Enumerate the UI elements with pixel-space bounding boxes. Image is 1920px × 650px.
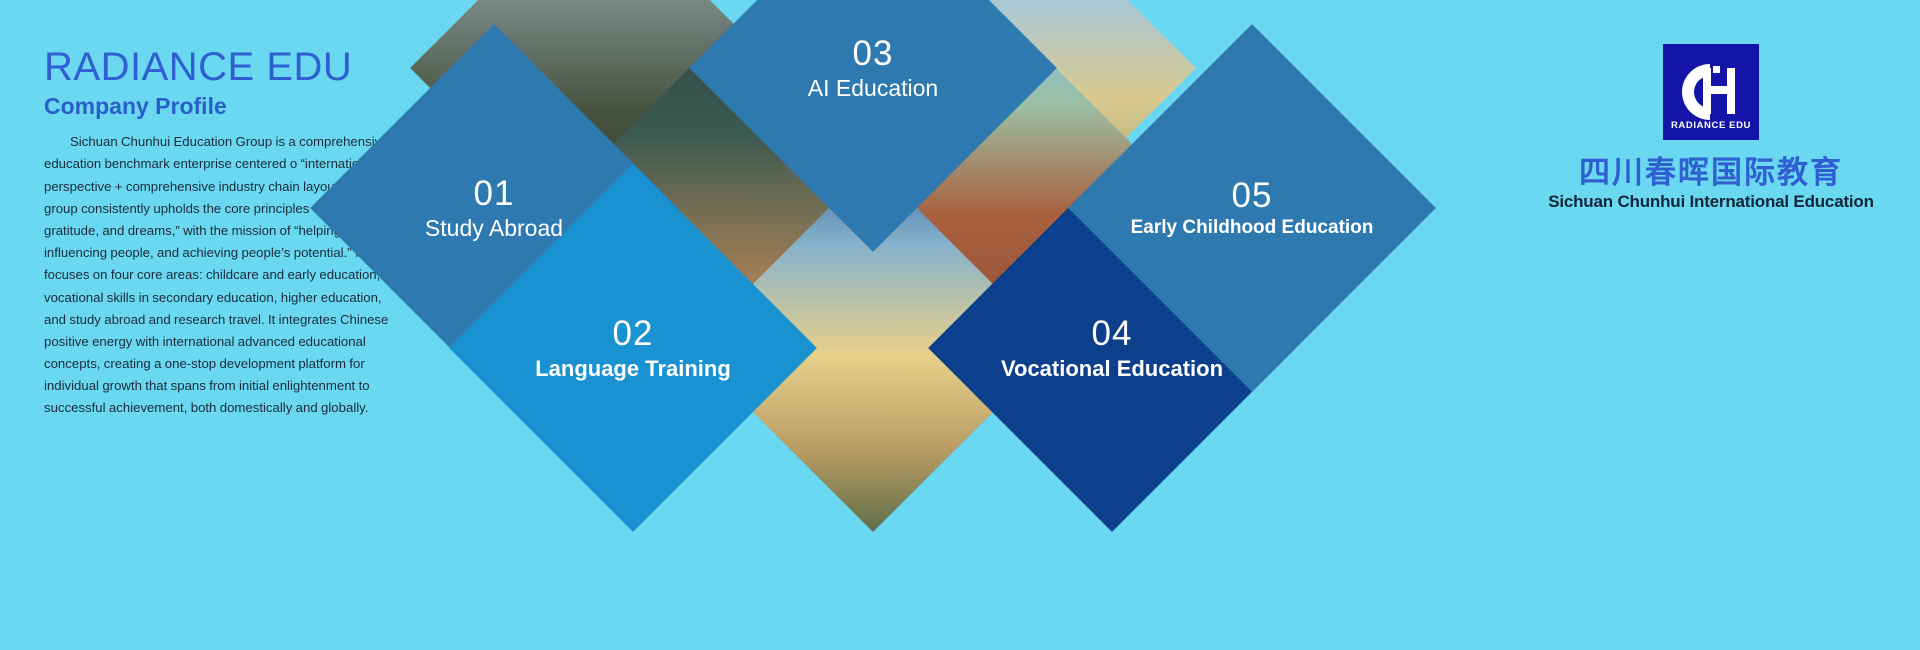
brand-title: RADIANCE EDU (44, 46, 414, 88)
company-name-english: Sichuan Chunhui International Education (1546, 192, 1876, 212)
company-profile-text: Sichuan Chunhui Education Group is a com… (44, 131, 394, 419)
radiance-edu-logo-icon: RADIANCE EDU (1663, 44, 1759, 140)
company-name-chinese: 四川春晖国际教育 (1546, 156, 1876, 190)
brand-logo-panel: RADIANCE EDU 四川春晖国际教育 Sichuan Chunhui In… (1546, 44, 1876, 212)
section-title: Company Profile (44, 94, 414, 119)
diamond-mosaic: 01 Study Abroad 02 Language Training 03 … (408, 0, 1518, 650)
svg-text:RADIANCE EDU: RADIANCE EDU (1671, 120, 1751, 131)
